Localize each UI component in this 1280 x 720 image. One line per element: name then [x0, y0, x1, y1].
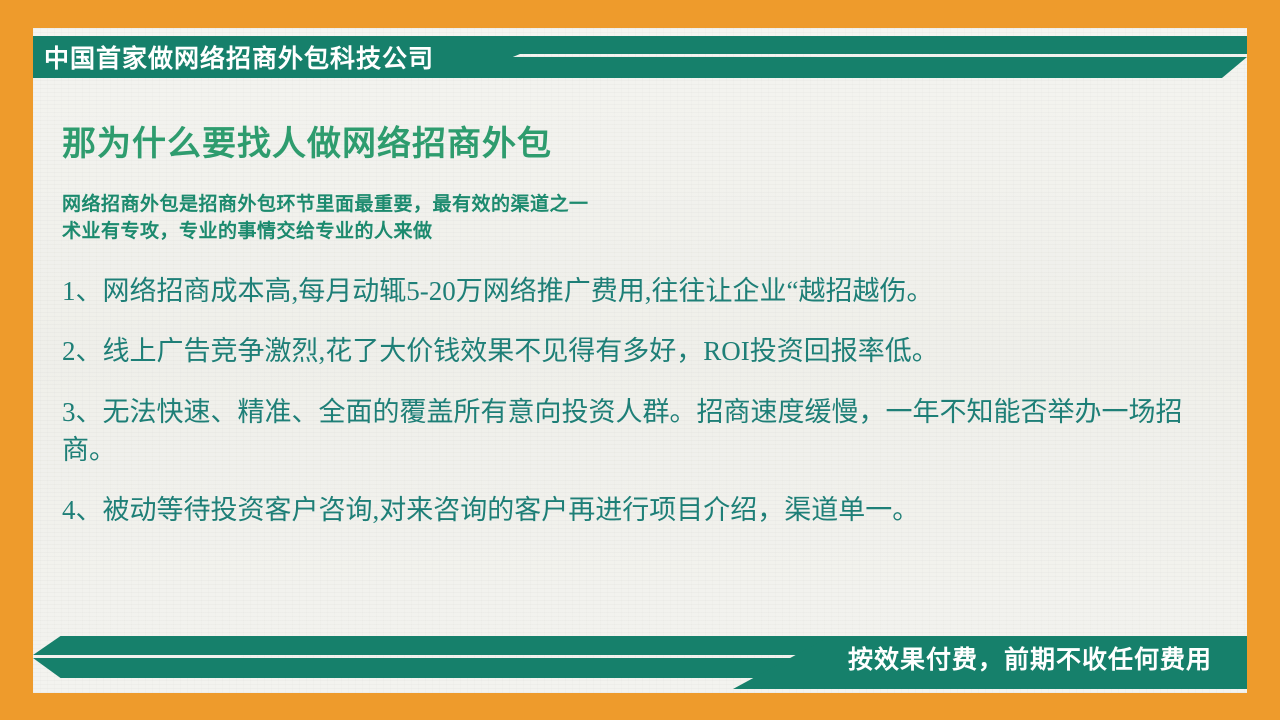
- header-green-stripe-bottom: [413, 57, 1247, 78]
- list-item: 2、线上广告竞争激烈,花了大价钱效果不见得有多好，ROI投资回报率低。: [62, 332, 1202, 370]
- header-green-stripe-top: [413, 36, 1247, 54]
- footer-green-stripe-top: [33, 636, 893, 655]
- presentation-slide: 中国首家做网络招商外包科技公司 那为什么要找人做网络招商外包 网络招商外包是招商…: [0, 0, 1280, 720]
- header-white-hairline: [817, 55, 1247, 57]
- header-tagline: 中国首家做网络招商外包科技公司: [44, 47, 434, 72]
- list-item: 4、被动等待投资客户咨询,对来咨询的客户再进行项目介绍，渠道单一。: [62, 491, 1202, 529]
- list-item: 1、网络招商成本高,每月动辄5-20万网络推广费用,往往让企业“越招越伤。: [62, 272, 1202, 310]
- footer-slogan: 按效果付费，前期不收任何费用: [848, 648, 1212, 673]
- page-title: 那为什么要找人做网络招商外包: [62, 124, 1202, 165]
- subtitle-line-1: 网络招商外包是招商外包环节里面最重要，最有效的渠道之一: [62, 191, 1202, 219]
- reasons-list: 1、网络招商成本高,每月动辄5-20万网络推广费用,往往让企业“越招越伤。 2、…: [62, 272, 1202, 530]
- slide-content: 那为什么要找人做网络招商外包 网络招商外包是招商外包环节里面最重要，最有效的渠道…: [62, 124, 1202, 530]
- subtitle-line-2: 术业有专攻，专业的事情交给专业的人来做: [62, 218, 1202, 246]
- list-item: 3、无法快速、精准、全面的覆盖所有意向投资人群。招商速度缓慢，一年不知能否举办一…: [62, 393, 1202, 470]
- footer-white-hairline: [33, 655, 241, 658]
